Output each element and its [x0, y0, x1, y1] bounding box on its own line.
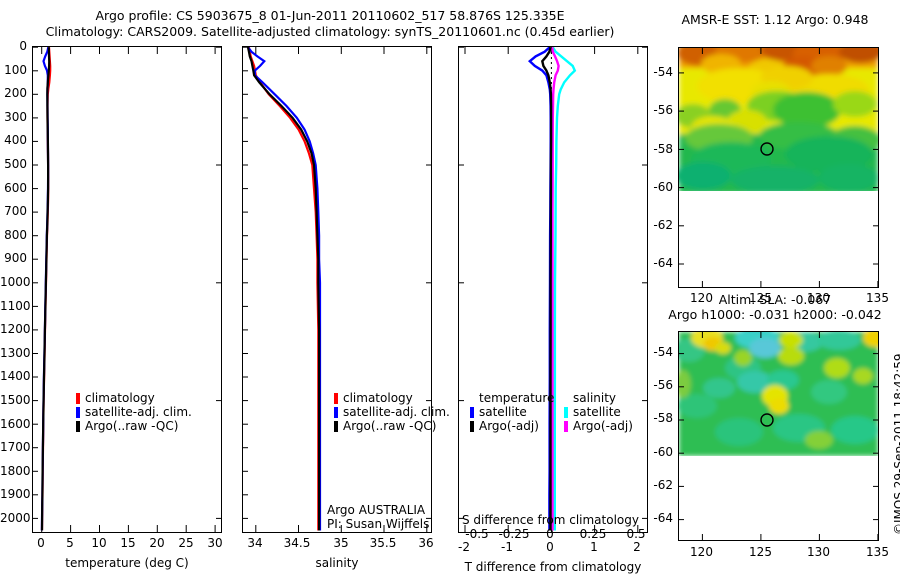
- legend-difference-temperature: temperature satellite Argo(-adj): [470, 391, 554, 433]
- map-sla-canvas: [679, 332, 878, 540]
- depth-tick-1900: 1900: [0, 487, 27, 501]
- legend-heading-temperature: temperature: [479, 391, 554, 405]
- legend-swatch-climatology-sal: [334, 393, 338, 404]
- legend-swatch-sal-argo-adj: [564, 421, 568, 432]
- t-diff-tick-2: 2: [629, 540, 645, 554]
- map-sla-lon-120: 120: [688, 545, 715, 559]
- map-sla-lat--62: -62: [640, 478, 673, 492]
- legend-swatch-satellite-adj: [76, 407, 80, 418]
- legend-heading-salinity-row: salinity: [564, 391, 633, 405]
- map-sla-lat--56: -56: [640, 378, 673, 392]
- map-sst-lat--64: -64: [640, 256, 673, 270]
- map-sla: [678, 331, 879, 541]
- depth-tick-400: 400: [0, 133, 27, 147]
- salinity-plot: [243, 47, 431, 532]
- depth-tick-1700: 1700: [0, 440, 27, 454]
- legend-item-argo-raw-sal: Argo(..raw -QC): [334, 419, 450, 433]
- depth-tick-1100: 1100: [0, 299, 27, 313]
- imos-credit-text: ©IMOS 29-Sep-2011 18:42:59: [892, 353, 900, 535]
- depth-tick-800: 800: [0, 228, 27, 242]
- legend-item-climatology-sal: climatology: [334, 391, 450, 405]
- legend-label-argo-raw-sal: Argo(..raw -QC): [343, 419, 436, 433]
- temperature-tick-30: 30: [204, 536, 226, 550]
- panel-difference: [458, 46, 648, 533]
- legend-spacer: [470, 393, 474, 404]
- s-diff-tick--0.25: -0.25: [492, 527, 536, 541]
- map-sst-lat--60: -60: [640, 180, 673, 194]
- map-sla-title-line2: Argo h1000: -0.031 h2000: -0.042: [652, 307, 898, 322]
- difference-plot: [459, 47, 647, 532]
- t-difference-axis-label: T difference from climatology: [458, 560, 648, 574]
- temperature-tick-15: 15: [117, 536, 139, 550]
- depth-tick-1400: 1400: [0, 369, 27, 383]
- depth-tick-0: 0: [0, 39, 27, 53]
- depth-tick-1600: 1600: [0, 417, 27, 431]
- map-sla-lat--64: -64: [640, 511, 673, 525]
- s-diff-tick-0: 0: [541, 527, 559, 541]
- temperature-tick-5: 5: [62, 536, 78, 550]
- imos-credit: ©IMOS 29-Sep-2011 18:42:59: [892, 535, 900, 549]
- depth-tick-2000: 2000: [0, 511, 27, 525]
- legend-swatch-temp-satellite: [470, 407, 474, 418]
- depth-tick-700: 700: [0, 204, 27, 218]
- legend-swatch-climatology: [76, 393, 80, 404]
- legend-temperature-panel: climatology satellite-adj. clim. Argo(..…: [76, 391, 192, 433]
- map-sst-lat--58: -58: [640, 142, 673, 156]
- salinity-tick-34: 34: [243, 536, 267, 550]
- provider-line1: Argo AUSTRALIA: [327, 503, 425, 517]
- legend-heading-salinity: salinity: [573, 391, 616, 405]
- depth-tick-300: 300: [0, 110, 27, 124]
- s-diff-tick--0.5: -0.5: [459, 527, 495, 541]
- figure-title-line2: Climatology: CARS2009. Satellite-adjuste…: [0, 24, 660, 39]
- provider-line2: PI: Susan Wijffels: [327, 517, 429, 531]
- map-sst-lat--56: -56: [640, 103, 673, 117]
- salinity-axis-label: salinity: [242, 556, 432, 570]
- depth-tick-1200: 1200: [0, 322, 27, 336]
- map-sla-lon-135: 135: [864, 545, 891, 559]
- map-sla-title-line1: Altim. SLA: -0.067: [660, 292, 890, 307]
- map-sst-title: AMSR-E SST: 1.12 Argo: 0.948: [660, 12, 890, 27]
- t-diff-tick--2: -2: [453, 540, 475, 554]
- figure-title-line1: Argo profile: CS 5903675_8 01-Jun-2011 2…: [0, 8, 660, 23]
- map-sst: [678, 47, 879, 288]
- map-sst-lat--54: -54: [640, 65, 673, 79]
- s-diff-tick-0.5: 0.5: [620, 527, 652, 541]
- map-sla-lat--60: -60: [640, 445, 673, 459]
- depth-tick-1800: 1800: [0, 464, 27, 478]
- legend-swatch-argo-raw: [76, 421, 80, 432]
- legend-item-argo-raw: Argo(..raw -QC): [76, 419, 192, 433]
- t-diff-tick--1: -1: [496, 540, 518, 554]
- legend-label-satellite-adj: satellite-adj. clim.: [85, 405, 192, 419]
- depth-tick-1500: 1500: [0, 393, 27, 407]
- legend-item-temp-satellite: satellite: [470, 405, 554, 419]
- legend-label-climatology: climatology: [85, 391, 155, 405]
- legend-label-temp-argo-adj: Argo(-adj): [479, 419, 539, 433]
- map-sla-lon-125: 125: [747, 545, 774, 559]
- legend-item-climatology: climatology: [76, 391, 192, 405]
- temperature-axis-label: temperature (deg C): [32, 556, 222, 570]
- temperature-tick-20: 20: [146, 536, 168, 550]
- t-diff-tick-1: 1: [586, 540, 602, 554]
- depth-tick-1300: 1300: [0, 346, 27, 360]
- depth-tick-200: 200: [0, 86, 27, 100]
- legend-swatch-satellite-adj-sal: [334, 407, 338, 418]
- panel-temperature: [32, 46, 222, 533]
- legend-difference-salinity: salinity satellite Argo(-adj): [564, 391, 633, 433]
- depth-tick-1000: 1000: [0, 275, 27, 289]
- legend-label-temp-satellite: satellite: [479, 405, 527, 419]
- legend-salinity-panel: climatology satellite-adj. clim. Argo(..…: [334, 391, 450, 433]
- legend-label-sal-argo-adj: Argo(-adj): [573, 419, 633, 433]
- depth-tick-100: 100: [0, 63, 27, 77]
- legend-item-temp-argo-adj: Argo(-adj): [470, 419, 554, 433]
- temperature-tick-25: 25: [175, 536, 197, 550]
- legend-item-sal-satellite: satellite: [564, 405, 633, 419]
- temperature-tick-10: 10: [88, 536, 110, 550]
- legend-label-climatology-sal: climatology: [343, 391, 413, 405]
- legend-item-sal-argo-adj: Argo(-adj): [564, 419, 633, 433]
- salinity-tick-35: 35: [329, 536, 353, 550]
- legend-spacer-sal: [564, 393, 568, 404]
- legend-heading-temperature-row: temperature: [470, 391, 554, 405]
- legend-label-satellite-adj-sal: satellite-adj. clim.: [343, 405, 450, 419]
- depth-tick-500: 500: [0, 157, 27, 171]
- temperature-tick-0: 0: [33, 536, 49, 550]
- temperature-plot: [33, 47, 221, 532]
- map-sla-lon-130: 130: [805, 545, 832, 559]
- legend-swatch-sal-satellite: [564, 407, 568, 418]
- map-sst-lat--62: -62: [640, 218, 673, 232]
- panel-salinity: [242, 46, 432, 533]
- legend-swatch-temp-argo-adj: [470, 421, 474, 432]
- map-sla-lat--58: -58: [640, 411, 673, 425]
- legend-swatch-argo-raw-sal: [334, 421, 338, 432]
- s-difference-axis-label: S difference from climatology: [462, 513, 639, 527]
- salinity-tick-36: 36: [414, 536, 438, 550]
- salinity-tick-35.5: 35.5: [363, 536, 403, 550]
- legend-item-satellite-adj-sal: satellite-adj. clim.: [334, 405, 450, 419]
- salinity-tick-34.5: 34.5: [277, 536, 317, 550]
- map-sla-lat--54: -54: [640, 345, 673, 359]
- t-diff-tick-0: 0: [542, 540, 558, 554]
- s-diff-tick-0.25: 0.25: [573, 527, 613, 541]
- map-sst-canvas: [679, 48, 878, 287]
- legend-label-argo-raw: Argo(..raw -QC): [85, 419, 178, 433]
- legend-item-satellite-adj: satellite-adj. clim.: [76, 405, 192, 419]
- depth-tick-600: 600: [0, 181, 27, 195]
- depth-tick-900: 900: [0, 251, 27, 265]
- legend-label-sal-satellite: satellite: [573, 405, 621, 419]
